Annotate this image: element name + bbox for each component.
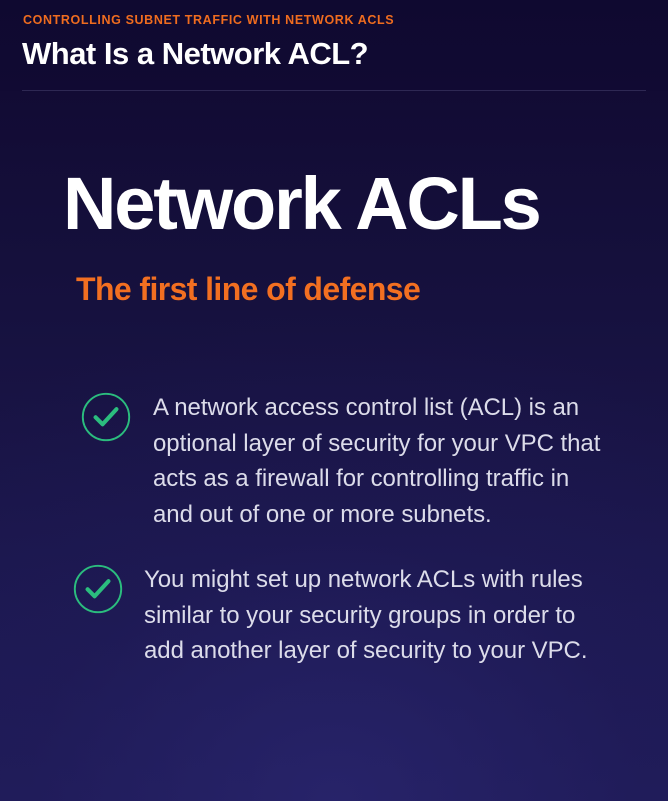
list-item-text: You might set up network ACLs with rules… bbox=[144, 562, 612, 669]
hero-subtitle: The first line of defense bbox=[76, 273, 420, 305]
check-circle-icon bbox=[81, 392, 131, 442]
slide-header: CONTROLLING SUBNET TRAFFIC WITH NETWORK … bbox=[0, 0, 668, 91]
bullet-list: A network access control list (ACL) is a… bbox=[0, 390, 668, 699]
list-item: You might set up network ACLs with rules… bbox=[0, 562, 668, 669]
list-item: A network access control list (ACL) is a… bbox=[0, 390, 668, 532]
list-item-text: A network access control list (ACL) is a… bbox=[153, 390, 608, 532]
slide-canvas: CONTROLLING SUBNET TRAFFIC WITH NETWORK … bbox=[0, 0, 668, 801]
hero-title: Network ACLs bbox=[63, 167, 540, 241]
page-title: What Is a Network ACL? bbox=[22, 36, 368, 72]
check-circle-icon bbox=[73, 564, 123, 614]
header-eyebrow: CONTROLLING SUBNET TRAFFIC WITH NETWORK … bbox=[23, 13, 394, 27]
header-divider bbox=[22, 90, 646, 91]
